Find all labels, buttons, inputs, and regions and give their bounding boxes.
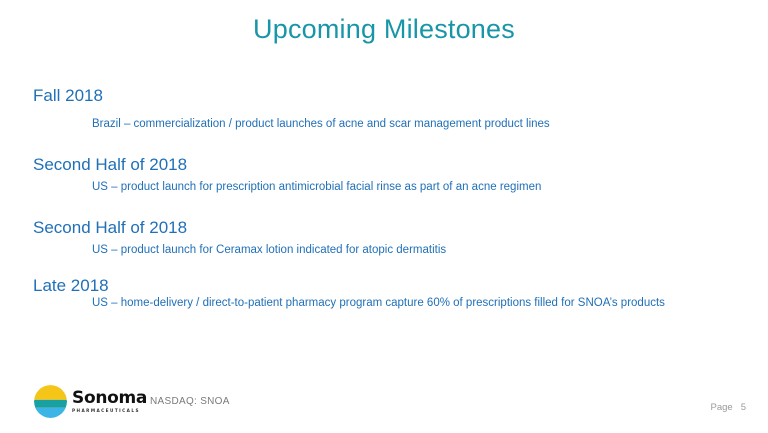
slide-canvas: Upcoming Milestones Fall 2018 Brazil – c… [0, 0, 768, 433]
page-number-value: 5 [741, 402, 746, 413]
milestone-detail: US – home-delivery / direct-to-patient p… [92, 297, 665, 309]
sonoma-circle-logo-icon [34, 385, 67, 418]
slide-footer: Sonoma PHARMACEUTICALS NASDAQ: SNOA Page… [0, 381, 768, 433]
nasdaq-ticker: NASDAQ: SNOA [150, 396, 230, 407]
logo-wordmark: Sonoma [72, 390, 147, 407]
logo-wordmark-group: Sonoma PHARMACEUTICALS [72, 390, 147, 413]
page-number: Page5 [711, 402, 746, 413]
milestone-detail: US – product launch for prescription ant… [92, 181, 541, 193]
milestone-detail: Brazil – commercialization / product lau… [92, 118, 550, 130]
milestone-heading: Fall 2018 [33, 86, 103, 106]
milestone-heading: Second Half of 2018 [33, 155, 187, 175]
milestone-heading: Second Half of 2018 [33, 218, 187, 238]
milestone-detail: US – product launch for Ceramax lotion i… [92, 244, 446, 256]
page-number-label: Page [711, 402, 733, 413]
milestone-heading: Late 2018 [33, 276, 109, 296]
logo-subtitle: PHARMACEUTICALS [72, 409, 147, 413]
company-logo: Sonoma PHARMACEUTICALS [34, 385, 147, 418]
page-title: Upcoming Milestones [0, 14, 768, 45]
